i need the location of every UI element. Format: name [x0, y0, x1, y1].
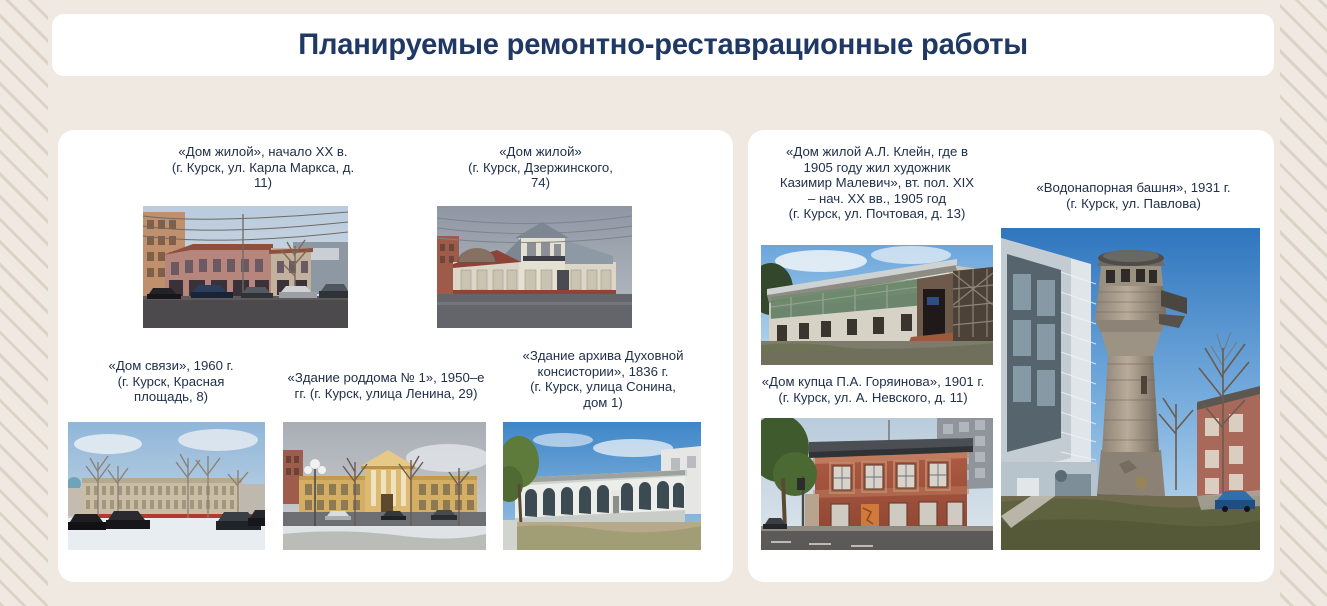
caption-dom-svyazi: «Дом связи», 1960 г. (г. Курск, Красная … [76, 358, 266, 405]
caption-line: (г. Курск, ул. А. Невского, д. 11) [748, 390, 998, 406]
photo-dom-kleyn [761, 245, 993, 365]
caption-dom-zhiloy-dzerzhinskogo: «Дом жилой» (г. Курск, Дзержинского, 74) [433, 144, 648, 191]
caption-dom-zhiloy-karla-marksa: «Дом жилой», начало XX в. (г. Курск, ул.… [133, 144, 393, 191]
caption-zdanie-roddoma: «Здание роддома № 1», 1950–е гг. (г. Кур… [273, 370, 499, 401]
caption-line: площадь, 8) [76, 389, 266, 405]
caption-line: консистории», 1836 г. [498, 364, 708, 380]
caption-line: дом 1) [498, 395, 708, 411]
caption-line: «Здание архива Духовной [498, 348, 708, 364]
photo-dom-svyazi [68, 422, 265, 550]
caption-line: (г. Курск, Красная [76, 374, 266, 390]
caption-line: «Здание роддома № 1», 1950–е [273, 370, 499, 386]
caption-dom-goryainova: «Дом купца П.А. Горяинова», 1901 г. (г. … [748, 374, 998, 405]
panel-left: «Дом жилой», начало XX в. (г. Курск, ул.… [58, 130, 733, 582]
caption-line: 1905 году жил художник [756, 160, 998, 176]
caption-line: (г. Курск, улица Сонина, [498, 379, 708, 395]
title-card: Планируемые ремонтно-реставрационные раб… [52, 14, 1274, 76]
caption-line: (г. Курск, Дзержинского, [433, 160, 648, 176]
caption-vodonapornaya-bashnya: «Водонапорная башня», 1931 г. (г. Курск,… [1006, 180, 1261, 211]
photo-zdanie-arhiva [503, 422, 701, 550]
caption-line: «Дом жилой» [433, 144, 648, 160]
caption-line: «Дом купца П.А. Горяинова», 1901 г. [748, 374, 998, 390]
caption-line: 11) [133, 175, 393, 191]
photo-dom-zhiloy-dzerzhinskogo [437, 206, 632, 328]
caption-line: «Дом жилой А.Л. Клейн, где в [756, 144, 998, 160]
caption-dom-kleyn: «Дом жилой А.Л. Клейн, где в 1905 году ж… [756, 144, 998, 222]
caption-line: (г. Курск, ул. Павлова) [1006, 196, 1261, 212]
caption-zdanie-arhiva: «Здание архива Духовной консистории», 18… [498, 348, 708, 410]
caption-line: гг. (г. Курск, улица Ленина, 29) [273, 386, 499, 402]
caption-line: «Дом жилой», начало XX в. [133, 144, 393, 160]
photo-vodonapornaya-bashnya [1001, 228, 1260, 550]
photo-zdanie-roddoma [283, 422, 486, 550]
caption-line: Казимир Малевич», вт. пол. XIX [756, 175, 998, 191]
photo-dom-zhiloy-karla-marksa [143, 206, 348, 328]
caption-line: (г. Курск, ул. Карла Маркса, д. [133, 160, 393, 176]
slide-stage: Планируемые ремонтно-реставрационные раб… [0, 0, 1327, 606]
caption-line: 74) [433, 175, 648, 191]
caption-line: «Водонапорная башня», 1931 г. [1006, 180, 1261, 196]
photo-dom-goryainova [761, 418, 993, 550]
caption-line: «Дом связи», 1960 г. [76, 358, 266, 374]
caption-line: (г. Курск, ул. Почтовая, д. 13) [756, 206, 998, 222]
page-title: Планируемые ремонтно-реставрационные раб… [298, 28, 1028, 62]
caption-line: – нач. XX вв., 1905 год [756, 191, 998, 207]
panel-right: «Дом жилой А.Л. Клейн, где в 1905 году ж… [748, 130, 1274, 582]
